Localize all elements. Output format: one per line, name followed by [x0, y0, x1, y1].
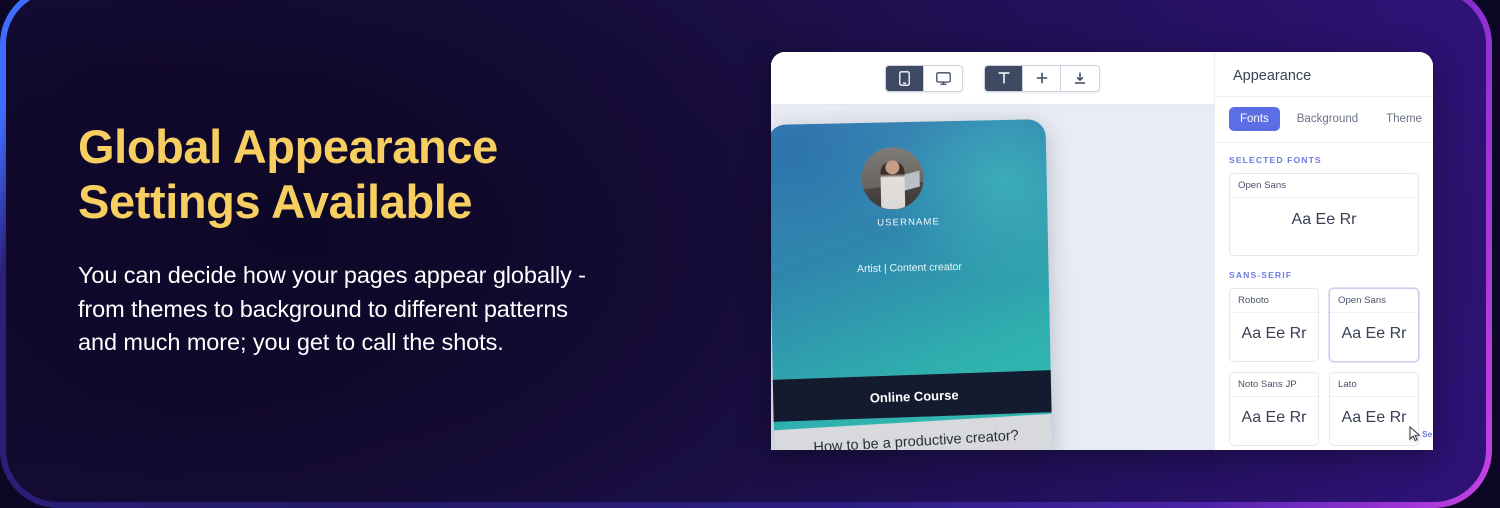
- select-button[interactable]: Select: [1422, 429, 1433, 439]
- preview-question-label: How to be a productive creator?: [813, 428, 1019, 450]
- body-line-2: from themes to background to different p…: [78, 293, 738, 327]
- plus-icon[interactable]: [1023, 66, 1061, 91]
- app-screenshot: USERNAME Artist | Content creator Online…: [771, 52, 1433, 450]
- tool-group[interactable]: [984, 65, 1100, 92]
- mobile-icon[interactable]: [886, 66, 924, 91]
- panel-body: SELECTED FONTS Open Sans Aa Ee Rr SANS-S…: [1215, 143, 1433, 446]
- headline-line-2: Settings Available: [78, 175, 738, 230]
- slide-canvas: Global Appearance Settings Available You…: [6, 0, 1486, 502]
- font-card-name: Roboto: [1230, 289, 1318, 313]
- panel-title: Appearance: [1215, 52, 1433, 97]
- page-title: Global Appearance Settings Available: [78, 120, 738, 229]
- font-card-noto-sans-jp[interactable]: Noto Sans JP Aa Ee Rr: [1229, 372, 1319, 446]
- body-line-1: You can decide how your pages appear glo…: [78, 259, 738, 293]
- cursor-with-select-chip: Select: [1409, 426, 1433, 442]
- font-card-name: Open Sans: [1230, 174, 1418, 198]
- selected-fonts-label: SELECTED FONTS: [1229, 155, 1419, 165]
- font-card-sample: Aa Ee Rr: [1230, 198, 1418, 255]
- phone-preview: USERNAME Artist | Content creator Online…: [771, 119, 1053, 450]
- panel-tab-bar: Fonts Background Theme: [1215, 97, 1433, 143]
- font-card-lato[interactable]: Lato Aa Ee Rr: [1329, 372, 1419, 446]
- page-subtitle: You can decide how your pages appear glo…: [78, 259, 738, 360]
- font-card-roboto[interactable]: Roboto Aa Ee Rr: [1229, 288, 1319, 362]
- font-card-name: Lato: [1330, 373, 1418, 397]
- font-card-sample: Aa Ee Rr: [1230, 313, 1318, 361]
- headline-line-1: Global Appearance: [78, 120, 738, 175]
- align-bottom-icon[interactable]: [1061, 66, 1099, 91]
- font-card-selected[interactable]: Open Sans Aa Ee Rr: [1229, 173, 1419, 256]
- mouse-cursor-icon: [1409, 426, 1421, 442]
- font-card-name: Noto Sans JP: [1230, 373, 1318, 397]
- body-line-3: and much more; you get to call the shots…: [78, 326, 738, 360]
- font-card-sample: Aa Ee Rr: [1330, 313, 1418, 361]
- tab-theme[interactable]: Theme: [1375, 107, 1433, 131]
- screenshot-stage: Global Appearance Settings Available You…: [0, 0, 1500, 508]
- gradient-frame-border: Global Appearance Settings Available You…: [0, 0, 1492, 508]
- editor-canvas: USERNAME Artist | Content creator Online…: [771, 52, 1214, 450]
- appearance-panel: Appearance Fonts Background Theme SELECT…: [1214, 52, 1433, 450]
- font-card-name: Open Sans: [1330, 289, 1418, 313]
- font-card-sample: Aa Ee Rr: [1230, 397, 1318, 445]
- font-card-open-sans[interactable]: Open Sans Aa Ee Rr: [1329, 288, 1419, 362]
- font-grid: Roboto Aa Ee Rr Open Sans Aa Ee Rr Noto …: [1229, 288, 1419, 446]
- tab-background[interactable]: Background: [1286, 107, 1369, 131]
- avatar: [861, 147, 924, 210]
- device-toggle-group[interactable]: [885, 65, 963, 92]
- text-t-icon[interactable]: [985, 66, 1023, 91]
- font-card-sample: Aa Ee Rr: [1330, 397, 1418, 445]
- desktop-icon[interactable]: [924, 66, 962, 91]
- marketing-copy: Global Appearance Settings Available You…: [78, 120, 738, 360]
- preview-online-course-label: Online Course: [870, 387, 959, 405]
- editor-toolbar: [771, 52, 1214, 105]
- tab-fonts[interactable]: Fonts: [1229, 107, 1280, 131]
- sans-serif-label: SANS-SERIF: [1229, 270, 1419, 280]
